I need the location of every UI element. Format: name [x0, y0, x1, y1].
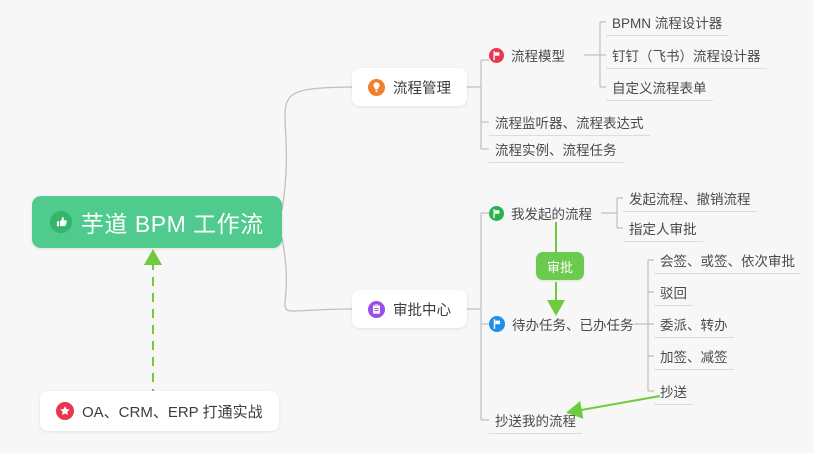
- leaf-label: 指定人审批: [629, 218, 697, 238]
- leaf-assignee-approval[interactable]: 指定人审批: [623, 214, 703, 242]
- node-label: 流程模型: [511, 45, 565, 65]
- leaf-custom-process-form[interactable]: 自定义流程表单: [606, 73, 713, 101]
- leaf-counter-or-sequential-sign[interactable]: 会签、或签、依次审批: [654, 246, 801, 274]
- leaf-label: 会签、或签、依次审批: [660, 250, 795, 270]
- flag-icon: [489, 316, 505, 332]
- leaf-label: 抄送: [660, 381, 687, 401]
- leaf-label: 发起流程、撤销流程: [629, 188, 751, 208]
- wire-root-to-approval-center: [282, 238, 352, 311]
- root-node[interactable]: 芋道 BPM 工作流: [32, 196, 282, 248]
- approval-badge[interactable]: 审批: [536, 252, 584, 280]
- node-process-model[interactable]: 流程模型: [489, 41, 565, 69]
- leaf-label: 钉钉（飞书）流程设计器: [612, 45, 761, 65]
- leaf-label: 流程实例、流程任务: [495, 139, 617, 159]
- node-my-initiated-process[interactable]: 我发起的流程: [489, 199, 592, 227]
- node-label: 审批中心: [393, 299, 451, 320]
- arrow-carbon-copy-to-cc-process: [570, 396, 660, 412]
- mindmap-canvas: 芋道 BPM 工作流 流程管理 流程模型 BPMN 流程设计器 钉钉（飞书）流程: [0, 0, 814, 453]
- flag-icon: [489, 206, 504, 221]
- leaf-label: 加签、减签: [660, 346, 728, 366]
- wire-root-to-process-management: [282, 87, 352, 210]
- leaf-delegate-transfer[interactable]: 委派、转办: [654, 310, 734, 338]
- root-label: 芋道 BPM 工作流: [81, 205, 264, 239]
- lightbulb-icon: [368, 79, 385, 96]
- leaf-process-instance-task[interactable]: 流程实例、流程任务: [489, 135, 623, 163]
- leaf-bpmn-designer[interactable]: BPMN 流程设计器: [606, 8, 728, 36]
- node-todo-done-tasks[interactable]: 待办任务、已办任务: [489, 310, 634, 338]
- leaf-dingtalk-feishu-designer[interactable]: 钉钉（飞书）流程设计器: [606, 41, 767, 69]
- node-label: OA、CRM、ERP 打通实战: [82, 401, 263, 422]
- flag-icon: [489, 48, 504, 63]
- leaf-process-listener-expression[interactable]: 流程监听器、流程表达式: [489, 108, 650, 136]
- leaf-label: 自定义流程表单: [612, 77, 707, 97]
- leaf-label: 驳回: [660, 282, 687, 302]
- leaf-start-cancel-process[interactable]: 发起流程、撤销流程: [623, 184, 757, 212]
- leaf-reject[interactable]: 驳回: [654, 278, 693, 306]
- star-icon: [56, 402, 74, 420]
- node-label: 我发起的流程: [511, 203, 592, 223]
- node-label: 流程管理: [393, 77, 451, 98]
- leaf-label: BPMN 流程设计器: [612, 12, 722, 32]
- node-approval-center[interactable]: 审批中心: [352, 290, 467, 328]
- leaf-label: 委派、转办: [660, 314, 728, 334]
- node-oa-crm-erp[interactable]: OA、CRM、ERP 打通实战: [40, 391, 279, 431]
- node-process-management[interactable]: 流程管理: [352, 68, 467, 106]
- clipboard-icon: [368, 301, 385, 318]
- leaf-carbon-copy[interactable]: 抄送: [654, 377, 693, 405]
- thumbs-up-icon: [50, 211, 72, 233]
- leaf-label: 流程监听器、流程表达式: [495, 112, 644, 132]
- node-label: 待办任务、已办任务: [512, 314, 634, 334]
- leaf-cc-to-me-process[interactable]: 抄送我的流程: [489, 406, 582, 434]
- leaf-add-remove-sign[interactable]: 加签、减签: [654, 342, 734, 370]
- approval-badge-label: 审批: [547, 257, 573, 276]
- leaf-label: 抄送我的流程: [495, 410, 576, 430]
